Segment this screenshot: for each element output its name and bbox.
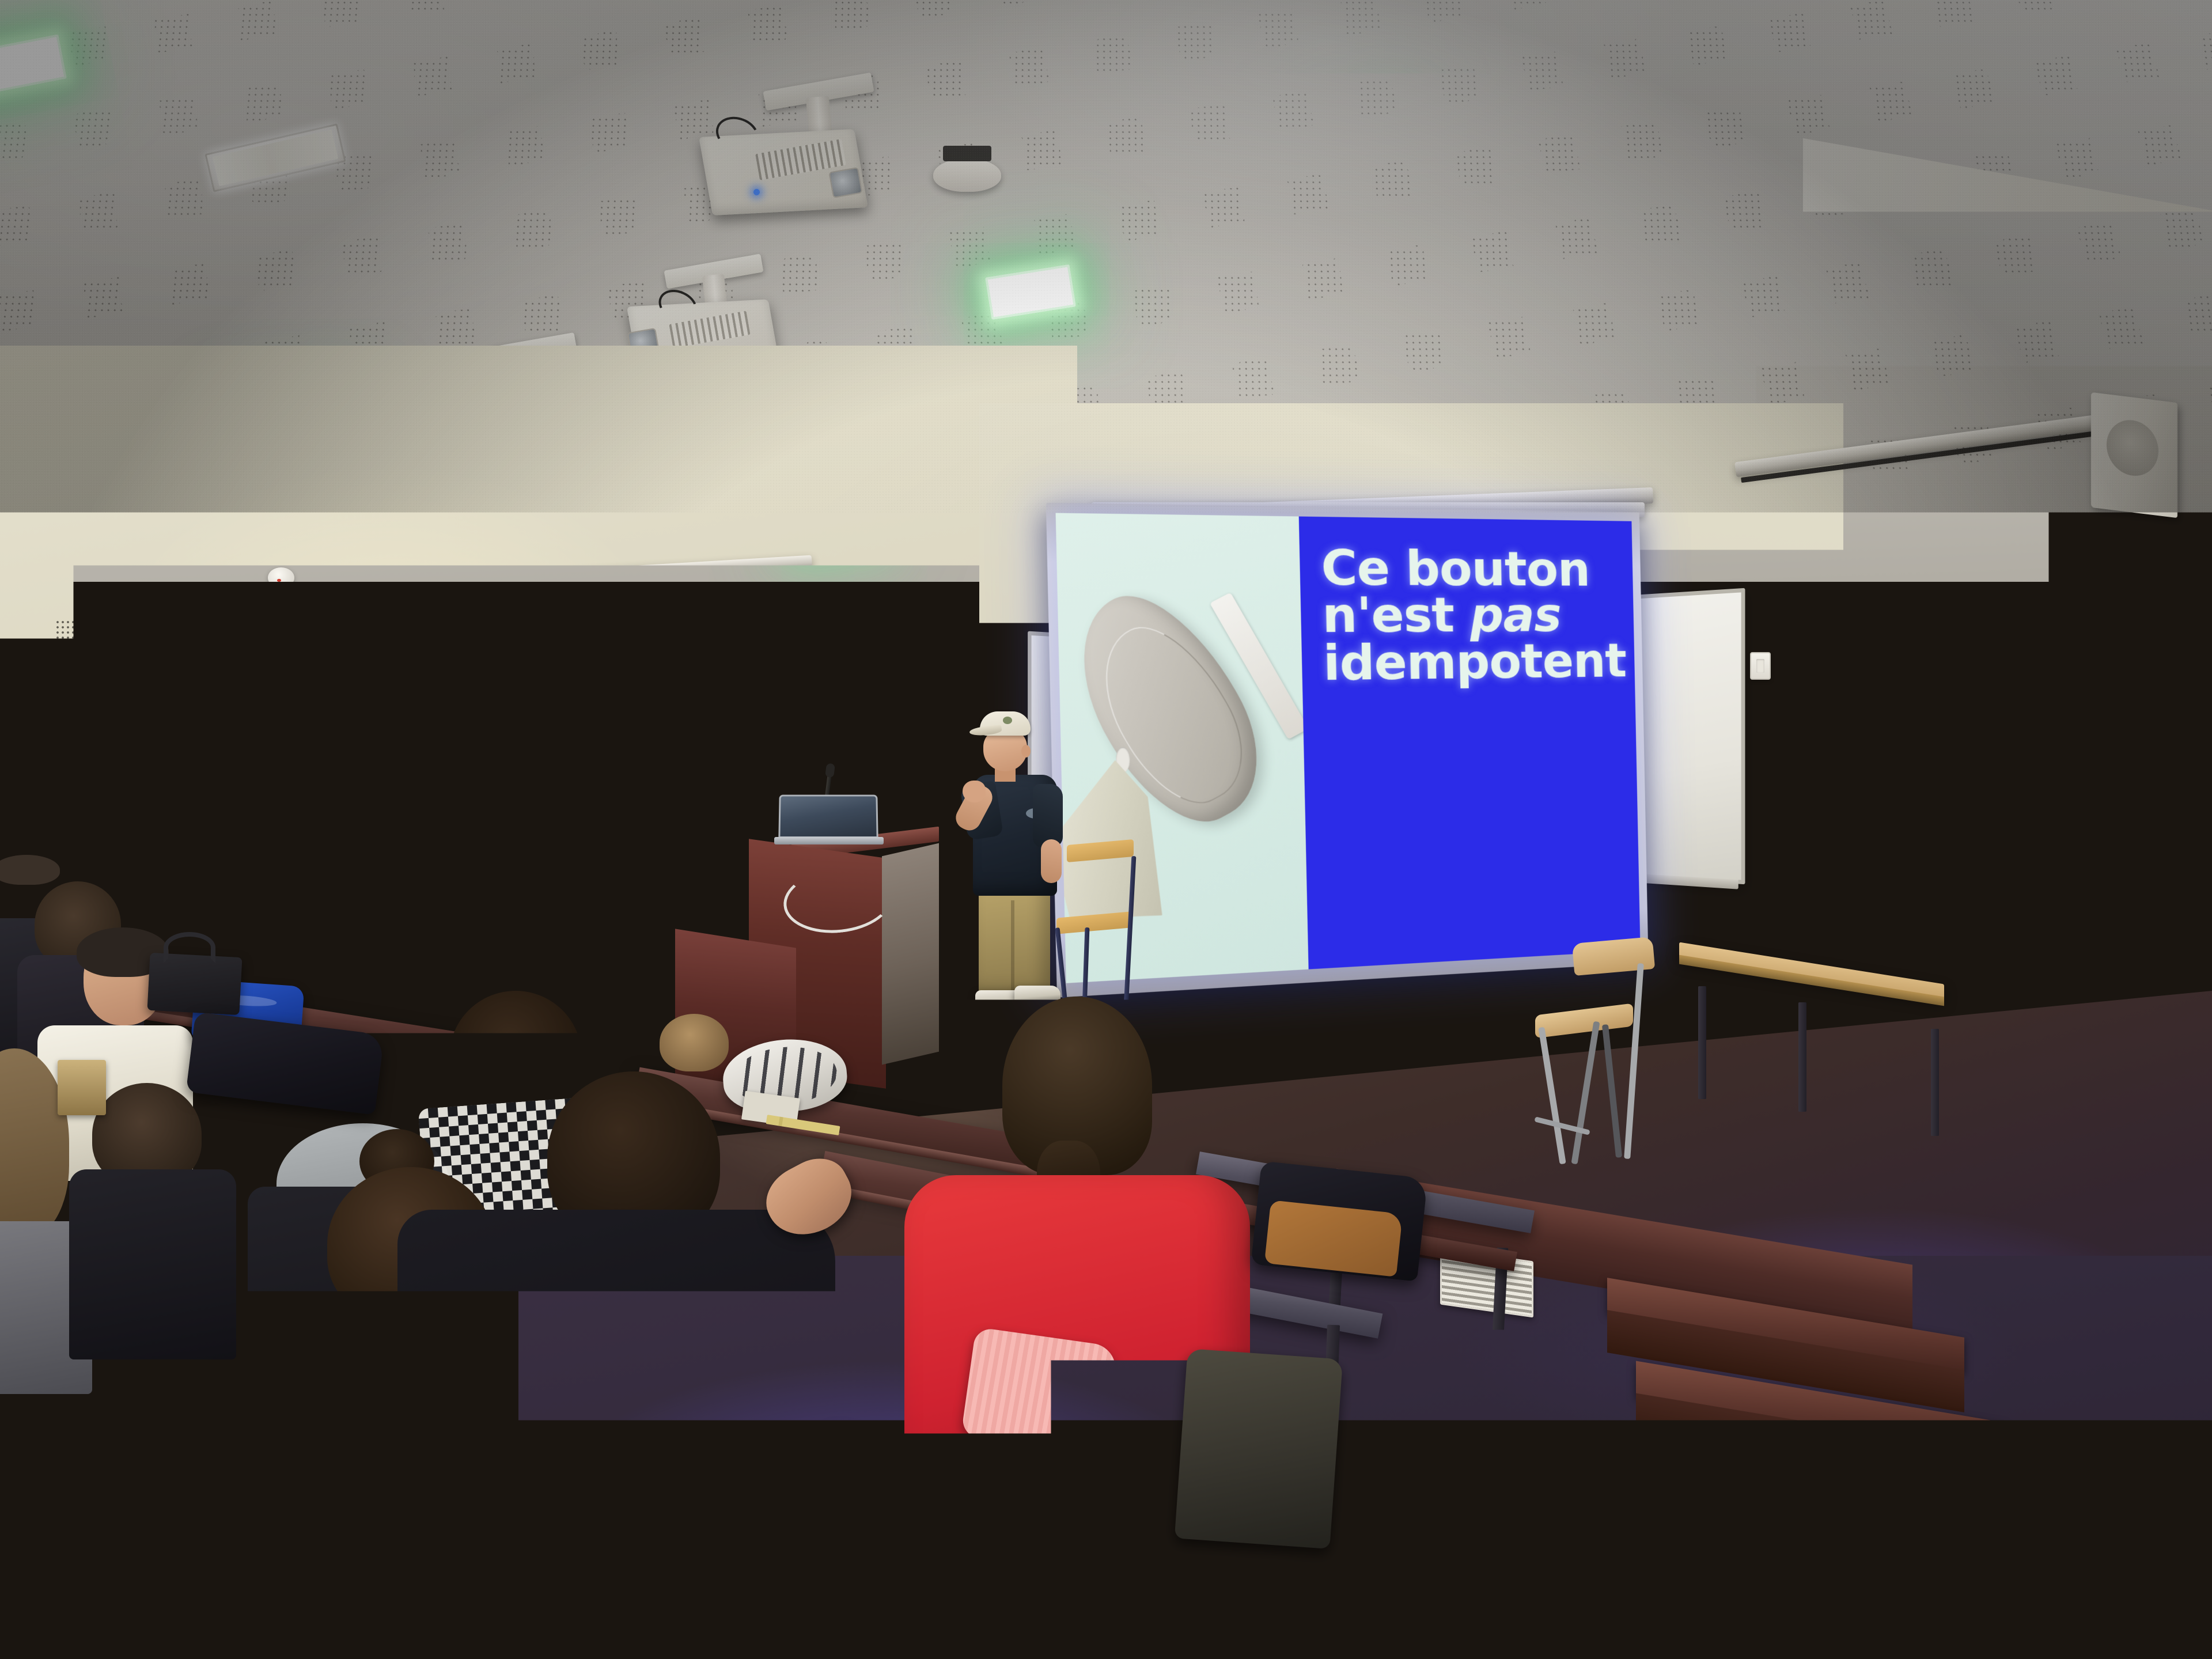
presenter-trousers [979,884,1050,994]
chair-leg [1624,963,1644,1159]
ceiling-strip-light [204,123,346,192]
stool-leg [1122,856,1137,1040]
handbag-handle [164,932,215,963]
presenter [959,711,1069,1022]
presenter-cap [980,711,1031,736]
stool-backrest [1067,839,1134,862]
laptop-screen [778,795,878,838]
chair-leg [1538,1027,1566,1165]
lectern-side-panel [882,843,939,1065]
chair-seat [1535,1003,1633,1039]
ceiling-light [1296,120,1407,188]
stage-table-leg [1931,1029,1939,1136]
acoustic-wall-panel [60,702,112,752]
slide-text-panel: Ce boutonn'est pasidempotent [1299,517,1641,969]
slide-title: Ce boutonn'est pasidempotent [1321,544,1627,687]
person-torso [69,1169,236,1359]
smoke-detector [1940,305,1970,329]
acoustic-wall-panel [138,880,191,931]
photo-scene: Ce boutonn'est pasidempotent [0,0,2212,1659]
wall-speaker [199,656,240,724]
ceiling-light [985,264,1076,320]
cap-logo [1003,717,1012,724]
presenter-laptop [779,794,878,838]
acoustic-wall-panel [135,795,188,846]
acoustic-wall-panel [56,621,108,671]
ring-light-cable [480,866,507,952]
presenter-shoe [1014,986,1060,1003]
chair-leg [1571,1021,1600,1165]
ceiling-light [0,34,67,97]
chair-leg [1602,1024,1622,1158]
wall-speaker [2091,392,2177,518]
presenter-sleeve-right [1033,784,1063,847]
pink-knit-garment [961,1327,1119,1456]
coffee-cup [58,1060,106,1115]
ceiling-dome-detector [933,158,1001,192]
slide-title-line-3: idempotent [1323,634,1627,691]
person-hair [660,1014,729,1071]
stage-table-leg [1698,986,1706,1099]
ring-light-mount [498,836,517,858]
wall-sconce-lamp [203,759,258,789]
presenter-ear [1021,745,1031,757]
acoustic-wall-panel [128,627,180,676]
person-hair [0,855,60,885]
presenter-hand-left [963,781,986,802]
stage-table-leg [1798,1002,1806,1112]
wall-fixture [12,757,30,778]
laptop-base [774,837,884,844]
acoustic-wall-panel [63,790,116,841]
ring-light [472,798,547,1040]
presenter-arm-right [1041,839,1062,883]
stage-folding-chair [1524,940,1696,1188]
light-switch[interactable] [1750,652,1771,680]
ceiling-projector [685,82,893,237]
backpack [1175,1349,1343,1549]
acoustic-wall-panel [131,707,184,758]
